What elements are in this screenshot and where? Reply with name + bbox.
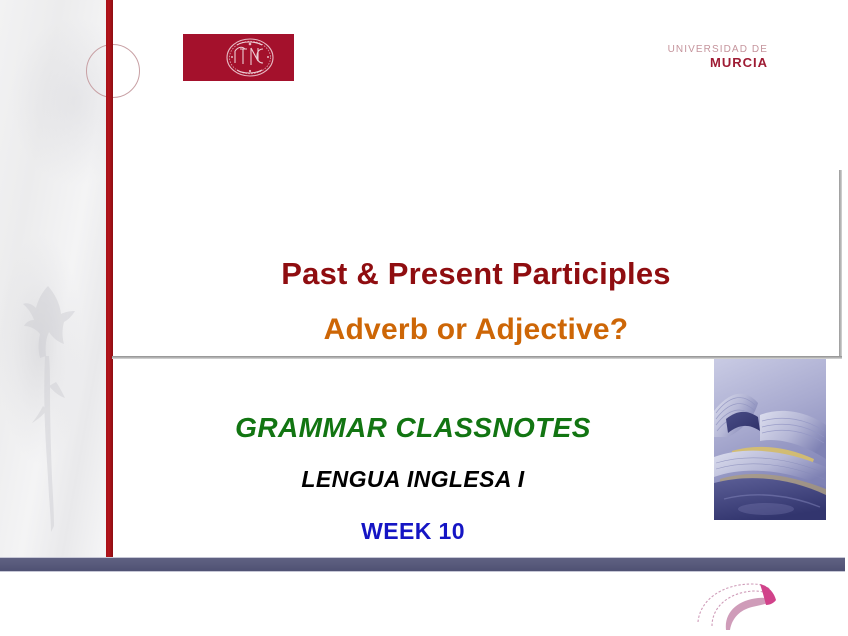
wordmark-line-universidad: UNIVERSIDAD DE <box>628 45 768 55</box>
course-name-label: LENGUA INGLESA I <box>113 466 713 493</box>
course-notes-label: GRAMMAR CLASSNOTES <box>113 412 713 444</box>
slide-title-subtitle: Adverb or Adjective? <box>113 313 839 347</box>
university-logo-block <box>183 34 294 81</box>
crest-watermark-icon <box>18 282 80 542</box>
wordmark-line-murcia: MURCIA <box>628 56 768 69</box>
open-book-photo-graphic <box>714 359 826 520</box>
presentation-slide: UNIVERSIDAD DE MURCIA Past & Present Par… <box>0 0 848 636</box>
bottom-purple-band <box>0 557 845 572</box>
decorative-circle-outline <box>86 44 140 98</box>
open-book-photo <box>714 359 826 520</box>
university-seal-icon <box>225 36 275 79</box>
frame-line-right <box>839 170 842 359</box>
week-label: WEEK 10 <box>113 518 713 545</box>
slide-title-main: Past & Present Participles <box>113 256 839 292</box>
red-vertical-bar <box>106 0 113 559</box>
decorative-swirl-icon <box>690 578 810 636</box>
university-wordmark: UNIVERSIDAD DE MURCIA <box>628 45 768 69</box>
